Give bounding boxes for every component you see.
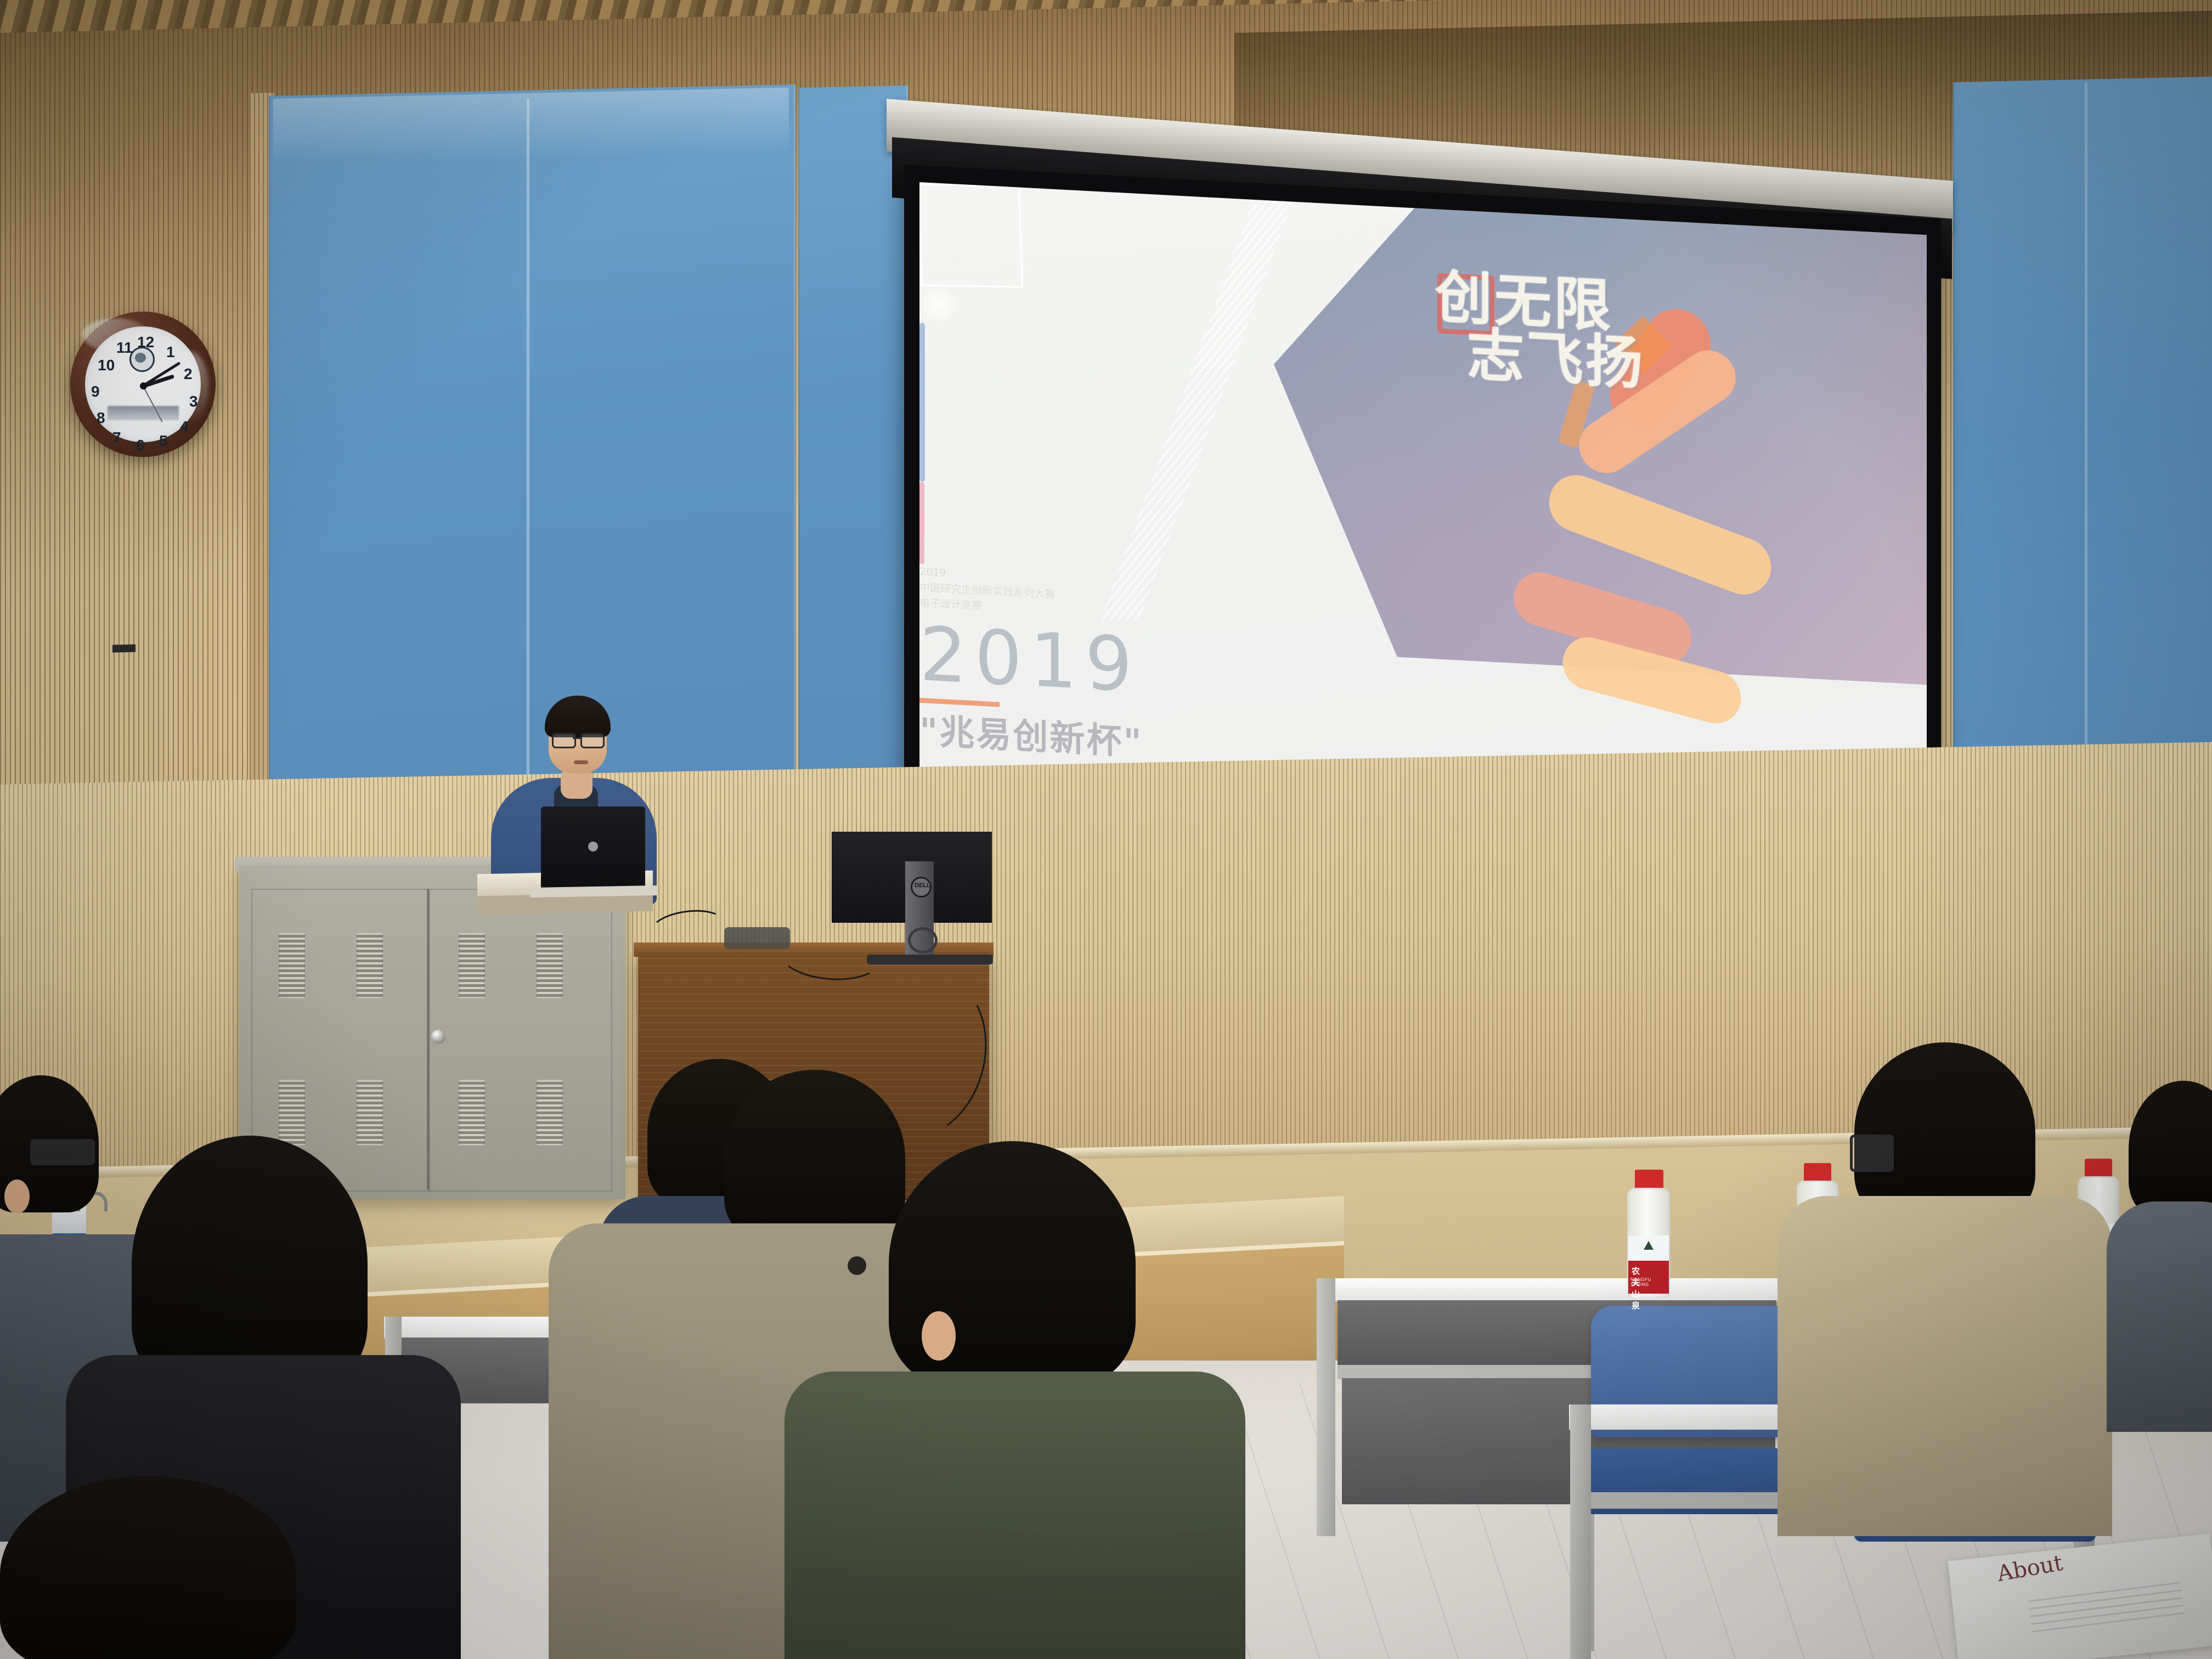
clock-numeral-7: 7 [112,430,121,445]
clock-numeral-9: 9 [91,384,100,399]
slide-blue-accent-bar [919,323,925,482]
clock-numeral-12: 12 [137,335,154,350]
dell-logo-text: DELL [915,882,926,889]
presenter-mouth [574,760,588,764]
desk-leg [1570,1404,1591,1659]
audience-body [1778,1196,2112,1536]
desk-leg [1317,1278,1335,1536]
audience-body [2107,1201,2212,1432]
desk-equipment [724,927,790,949]
audience-body [785,1372,1245,1659]
clock-numeral-11: 11 [116,340,133,356]
clock-center-pin [140,382,147,390]
bottle-cap [2085,1159,2112,1177]
presenter-glasses-left-lens [552,733,576,748]
clock-numeral-4: 4 [180,419,189,435]
bottle-brand-cn: 农夫山泉 [1632,1265,1640,1311]
bottle-cap [1635,1170,1663,1189]
panel-gloss [273,87,789,165]
wall-fixture [112,645,136,653]
clock-brand-text [108,406,179,420]
slide-square-outline [919,184,1023,287]
clock-numeral-2: 2 [184,366,193,382]
panel-seam [527,99,529,856]
lecture-hall-photo: 12 1 2 3 4 5 6 7 8 9 10 11 2019 中国研究生创新实… [0,0,2212,1659]
cabinet-vent [537,1080,563,1145]
presenter-glasses-right-lens [580,733,605,748]
laptop-logo [588,842,598,851]
audience-glasses [30,1139,95,1165]
cabinet-lock[interactable] [431,1030,445,1044]
blue-wall-panel-left [269,84,795,859]
clock-numeral-8: 8 [97,410,105,426]
presenter-glasses-bridge [573,737,582,739]
monitor-foot [867,955,993,964]
jacket-button [848,1256,866,1275]
clock-numeral-5: 5 [159,433,168,449]
bottle-mountain-icon [1644,1241,1654,1250]
cabinet-vent [279,1080,305,1145]
slide-pink-accent-bar [919,482,924,564]
audience-ear [922,1311,956,1361]
clock-numeral-10: 10 [98,358,115,373]
cabinet-vent [459,1080,485,1145]
slide-light-flare [919,284,958,325]
clock-numeral-6: 6 [136,438,145,453]
cabinet-vent [279,933,305,998]
desk-top [1317,1278,1799,1301]
slide-calligraphy: 创无限 志飞扬 [1435,269,1720,449]
bottle-brand-en: NONGFU SPRING [1630,1277,1651,1287]
blue-wall-panel-middle [798,86,908,856]
clock-numeral-1: 1 [166,345,175,360]
cabinet-vent [357,1080,383,1145]
cabinet-vent [459,933,485,998]
audience-head [724,1070,905,1245]
monitor-cable-ring [908,927,938,953]
bottle-cap [1804,1163,1831,1182]
cabinet-door-seam [427,889,429,1189]
cabinet-vent [537,933,563,998]
clock-logo-inner [135,353,146,363]
clock-numeral-3: 3 [189,394,198,409]
audience-ear [4,1180,30,1214]
cabinet-vent [357,933,383,998]
audience-glasses [1850,1135,1894,1172]
cabinet-door-right[interactable] [429,889,612,1192]
